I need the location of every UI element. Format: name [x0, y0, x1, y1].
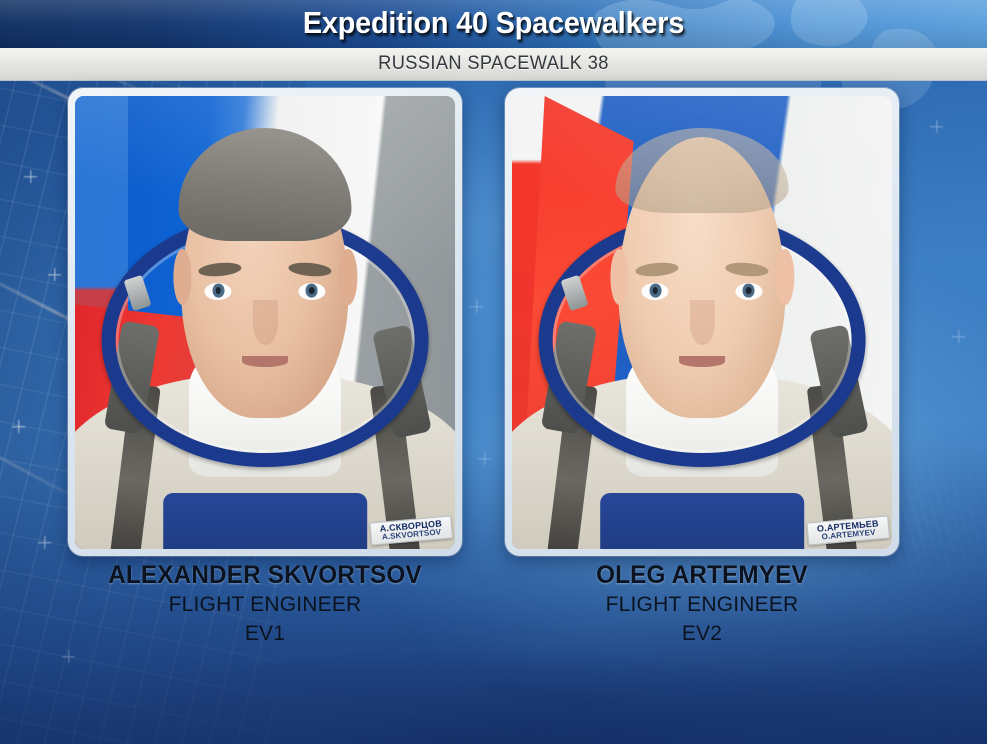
- face: [181, 137, 348, 418]
- crew-role-1: FLIGHT ENGINEER: [68, 590, 462, 619]
- eye: [735, 283, 762, 300]
- title-banner: Expedition 40 Spacewalkers: [0, 0, 987, 48]
- eyebrow: [198, 261, 242, 277]
- crew-ev-designation-2: EV2: [505, 619, 899, 648]
- eyebrow: [725, 261, 769, 277]
- crew-name-2: OLEG ARTEMYEV: [511, 560, 893, 590]
- ear: [339, 249, 357, 305]
- suit-nametag: О.АРТЕМЬЕВ O.ARTEMYEV: [806, 516, 890, 546]
- page-title: Expedition 40 Spacewalkers: [35, 0, 953, 48]
- hair: [615, 128, 789, 212]
- star-sparkle-icon: [24, 170, 37, 183]
- crew-caption-1: ALEXANDER SKVORTSOV FLIGHT ENGINEER EV1: [68, 560, 462, 648]
- ear: [610, 249, 628, 305]
- eyebrow: [288, 261, 332, 277]
- mouth: [679, 356, 726, 367]
- subtitle-bar: RUSSIAN SPACEWALK 38: [0, 48, 987, 81]
- crew-ev-designation-1: EV1: [68, 619, 462, 648]
- eyebrow: [635, 261, 679, 277]
- ear: [173, 249, 191, 305]
- star-sparkle-icon: [470, 300, 483, 313]
- nose: [689, 300, 714, 345]
- ear: [776, 249, 794, 305]
- portrait-alexander-skvortsov: А.СКВОРЦОВ A.SKVORTSOV: [75, 96, 455, 549]
- suit-blue-panel: [163, 493, 367, 549]
- star-sparkle-icon: [48, 268, 61, 281]
- portrait-oleg-artemyev: О.АРТЕМЬЕВ O.ARTEMYEV: [512, 96, 892, 549]
- eye: [205, 283, 232, 300]
- crew-caption-2: OLEG ARTEMYEV FLIGHT ENGINEER EV2: [505, 560, 899, 648]
- crew-name-1: ALEXANDER SKVORTSOV: [74, 560, 456, 590]
- crew-photo-card-2: О.АРТЕМЬЕВ O.ARTEMYEV: [505, 88, 899, 556]
- suit-nametag: А.СКВОРЦОВ A.SKVORTSOV: [369, 516, 453, 546]
- star-sparkle-icon: [12, 420, 25, 433]
- nose: [252, 300, 277, 345]
- hair: [178, 128, 352, 240]
- eye: [298, 283, 325, 300]
- cosmonaut-figure: О.АРТЕМЬЕВ O.ARTEMYEV: [512, 96, 892, 549]
- suit-blue-panel: [600, 493, 804, 549]
- subtitle-text: RUSSIAN SPACEWALK 38: [20, 48, 968, 81]
- eye: [642, 283, 669, 300]
- mouth: [242, 356, 289, 367]
- crew-photo-card-1: А.СКВОРЦОВ A.SKVORTSOV: [68, 88, 462, 556]
- face: [618, 137, 785, 418]
- cosmonaut-figure: А.СКВОРЦОВ A.SKVORTSOV: [75, 96, 455, 549]
- crew-role-2: FLIGHT ENGINEER: [505, 590, 899, 619]
